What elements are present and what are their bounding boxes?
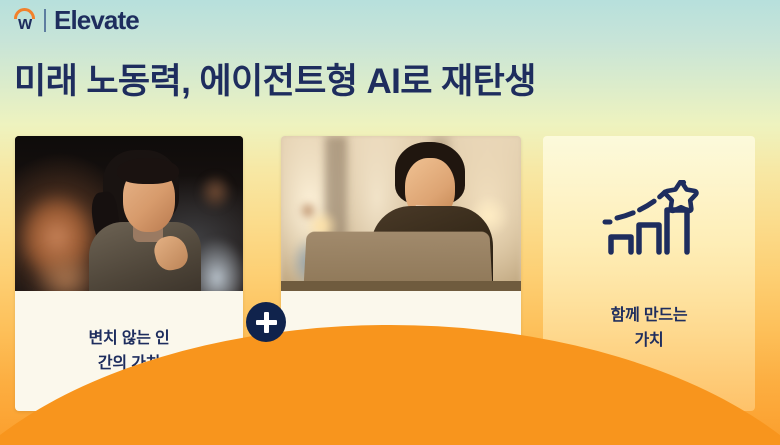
plus-vertical-bar <box>264 312 269 333</box>
photo-subject <box>87 150 207 291</box>
photo-woman-in-meeting <box>15 136 243 291</box>
brand-logo: w Elevate <box>10 3 139 37</box>
logo-divider <box>44 9 46 32</box>
photo-woman-at-laptop <box>281 136 521 291</box>
page-title: 미래 노동력, 에이전트형 AI로 재탄생 <box>14 61 536 103</box>
plus-icon <box>246 302 286 342</box>
slide-canvas: w Elevate 미래 노동력, 에이전트형 AI로 재탄생 <box>0 0 780 445</box>
logo-w-letter: w <box>10 14 40 33</box>
subject-bangs <box>117 158 179 184</box>
brand-name: Elevate <box>54 7 139 33</box>
desk-edge <box>281 281 521 291</box>
growth-chart-star-icon <box>597 180 701 275</box>
card-caption: 함께 만드는 가치 <box>611 303 688 353</box>
w-arc-logo-icon: w <box>10 5 40 35</box>
